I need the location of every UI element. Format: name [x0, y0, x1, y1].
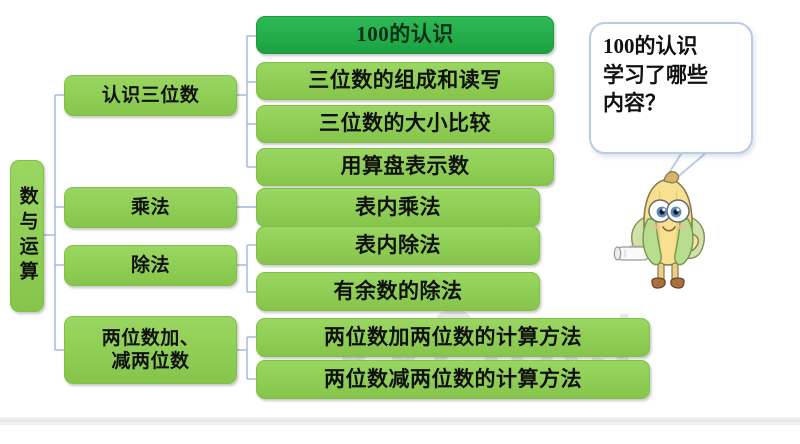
- leaf-node-table-division[interactable]: 表内除法: [256, 226, 540, 265]
- leaf-node-compose-read-write[interactable]: 三位数的组成和读写: [256, 62, 554, 100]
- leaf-label-compose-read-write: 三位数的组成和读写: [308, 69, 502, 93]
- leaf-label-know-100: 100的认识: [356, 23, 454, 47]
- corn-character-icon: [608, 163, 728, 303]
- leaf-node-sub-method[interactable]: 两位数减两位数的计算方法: [256, 360, 650, 399]
- speech-bubble-line-2: 学习了哪些: [603, 61, 741, 90]
- leaf-node-division-remainder[interactable]: 有余数的除法: [256, 272, 540, 311]
- mind-map-canvas: vv2.net 数与运算 认识三位数 乘: [0, 0, 800, 444]
- root-node-label: 数与运算: [16, 186, 37, 286]
- branch-node-recognize[interactable]: 认识三位数: [64, 75, 237, 116]
- branch-node-division[interactable]: 除法: [64, 245, 237, 286]
- branch-label-two-digit-add-sub: 两位数加、 减两位数: [102, 327, 200, 373]
- leaf-label-abacus: 用算盘表示数: [341, 155, 470, 179]
- speech-bubble-line-3: 内容？: [603, 89, 741, 118]
- leaf-node-add-method[interactable]: 两位数加两位数的计算方法: [256, 318, 650, 357]
- bottom-divider-bar: [0, 417, 800, 425]
- branch-label-multiplication: 乘法: [131, 197, 170, 218]
- leaf-label-table-division: 表内除法: [355, 234, 441, 258]
- speech-bubble-line-1: 100的认识: [603, 32, 741, 61]
- branch-label-division: 除法: [131, 255, 170, 276]
- leaf-label-division-remainder: 有余数的除法: [334, 280, 463, 304]
- leaf-label-sub-method: 两位数减两位数的计算方法: [324, 368, 582, 392]
- leaf-node-compare-size[interactable]: 三位数的大小比较: [256, 105, 554, 143]
- leaf-node-table-multiplication[interactable]: 表内乘法: [256, 188, 540, 227]
- speech-bubble: 100的认识 学习了哪些 内容？: [589, 22, 753, 154]
- leaf-label-compare-size: 三位数的大小比较: [319, 112, 491, 136]
- root-node[interactable]: 数与运算: [10, 160, 44, 312]
- branch-node-two-digit-add-sub[interactable]: 两位数加、 减两位数: [64, 316, 237, 384]
- branch-label-recognize: 认识三位数: [102, 85, 200, 106]
- leaf-node-abacus[interactable]: 用算盘表示数: [256, 148, 554, 186]
- leaf-label-add-method: 两位数加两位数的计算方法: [324, 326, 582, 350]
- leaf-label-table-multiplication: 表内乘法: [355, 196, 441, 220]
- leaf-node-know-100[interactable]: 100的认识: [256, 16, 554, 54]
- branch-node-multiplication[interactable]: 乘法: [64, 187, 237, 228]
